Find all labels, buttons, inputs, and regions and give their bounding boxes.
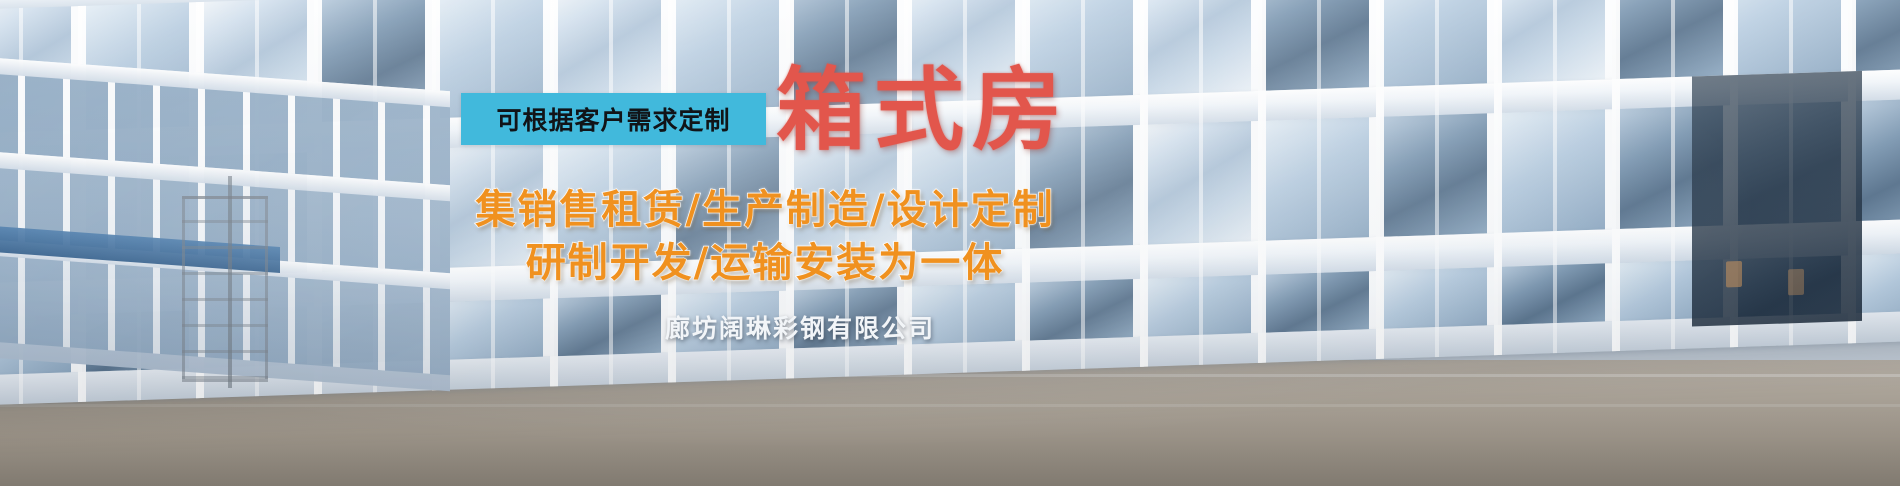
text-overlay: 可根据客户需求定制 箱式房 集销售租赁/生产制造/设计定制 研制开发/运输安装为… — [0, 0, 1900, 486]
company-name: 廊坊阔琳彩钢有限公司 — [0, 309, 1600, 345]
promotional-banner: 可根据客户需求定制 箱式房 集销售租赁/生产制造/设计定制 研制开发/运输安装为… — [0, 0, 1900, 486]
slogan-line-2: 研制开发/运输安装为一体 — [0, 243, 1530, 283]
customization-tag-label: 可根据客户需求定制 — [496, 101, 730, 137]
page-title: 箱式房 — [776, 66, 1070, 156]
slogan-line-1: 集销售租赁/生产制造/设计定制 — [0, 190, 1530, 230]
customization-tag: 可根据客户需求定制 — [461, 93, 766, 145]
